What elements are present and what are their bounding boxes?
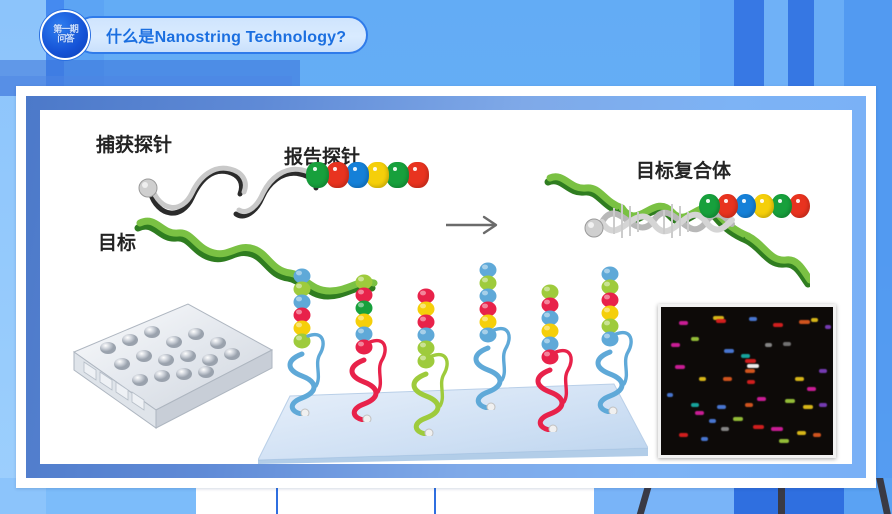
fluorescence-spot (797, 431, 806, 435)
molecule-bead (418, 341, 435, 356)
fluorescence-spot (691, 337, 699, 341)
surface-molecule (344, 272, 398, 422)
figure-frame-outer: 捕获探针 报告探针 目标 目标复合体 (16, 86, 876, 488)
molecule-bead (480, 315, 497, 330)
fluorescence-spot (699, 377, 706, 381)
fluorescence-spot (741, 354, 750, 358)
molecule-bead (542, 298, 559, 313)
fluorescence-spot (747, 364, 759, 368)
molecule-bead (542, 311, 559, 326)
fluorescence-spot (779, 439, 789, 443)
fluorescence-spot (691, 403, 699, 407)
fluorescence-spot (803, 405, 813, 409)
molecule-bead (602, 267, 619, 282)
complex-bead (789, 194, 810, 218)
molecule-bead (294, 282, 311, 297)
molecule-helix (406, 286, 460, 436)
fluorescence-spot (757, 397, 766, 401)
fluorescence-spot (819, 369, 827, 373)
molecule-bead (356, 327, 373, 342)
fluorescence-spot (749, 317, 757, 321)
molecule-bead (602, 306, 619, 321)
fluorescence-spot (679, 321, 688, 325)
surface-molecule (530, 282, 584, 432)
molecule-bead (356, 275, 373, 290)
complex-bead (735, 194, 756, 218)
fluorescence-spot (721, 427, 729, 431)
surface-molecules (258, 260, 648, 450)
molecule-helix (590, 264, 644, 414)
molecule-helix (344, 272, 398, 422)
surface-molecule (590, 264, 644, 414)
fluorescence-image (658, 304, 836, 458)
molecule-bead (294, 269, 311, 284)
molecule-bead (294, 295, 311, 310)
figure-canvas: 捕获探针 报告探针 目标 目标复合体 (40, 110, 852, 464)
complex-bead (771, 194, 792, 218)
molecule-bead (356, 288, 373, 303)
molecule-bead (542, 285, 559, 300)
molecule-bead (418, 289, 435, 304)
fluorescence-spot (733, 417, 743, 421)
process-arrow-icon (444, 215, 502, 235)
fluorescence-spot (717, 405, 726, 409)
molecule-bead (356, 314, 373, 329)
slide-title-bar: 第一期 问答 什么是Nanostring Technology? (40, 12, 368, 58)
figure-frame-inner: 捕获探针 报告探针 目标 目标复合体 (26, 96, 866, 478)
fluorescence-spot (795, 377, 804, 381)
molecule-bead (542, 324, 559, 339)
reporter-bead (386, 162, 409, 188)
fluorescence-spot (783, 342, 791, 346)
molecule-bead (602, 319, 619, 334)
complex-bead (753, 194, 774, 218)
badge-glyph: 第一期 问答 (53, 26, 78, 44)
fluorescence-spot (745, 403, 753, 407)
fluorescence-spot (679, 433, 688, 437)
molecule-bead (480, 263, 497, 278)
fluorescence-spot (716, 319, 726, 323)
molecule-bead (602, 293, 619, 308)
fluorescence-spot (723, 377, 732, 381)
badge-glyph-bottom: 问答 (53, 35, 78, 44)
molecule-bead (480, 289, 497, 304)
surface-molecule (468, 260, 522, 410)
molecule-bead (602, 280, 619, 295)
molecule-bead (418, 315, 435, 330)
reporter-bead (306, 162, 329, 188)
fluorescence-spot (785, 399, 795, 403)
complex-bead (699, 194, 720, 218)
label-capture-probe: 捕获探针 (96, 130, 172, 157)
slide-stage: 第一期 问答 什么是Nanostring Technology? 捕获探针 报告… (0, 0, 892, 514)
molecule-helix (282, 266, 336, 416)
molecule-bead (480, 302, 497, 317)
reporter-bead (406, 162, 429, 188)
fluorescence-spot (811, 318, 818, 322)
reporter-bead (346, 162, 369, 188)
reporter-probe-barcode (306, 162, 426, 188)
fluorescence-spot (771, 427, 783, 431)
fluorescence-spot (825, 325, 831, 329)
fluorescence-spot (695, 411, 704, 415)
molecule-bead (418, 328, 435, 343)
fluorescence-spot (709, 419, 716, 423)
molecule-bead (356, 301, 373, 316)
fluorescence-spot (765, 343, 772, 347)
fluorescence-spot (675, 365, 685, 369)
fluorescence-spot (724, 349, 734, 353)
fluorescence-spot (747, 380, 755, 384)
molecule-bead (294, 308, 311, 323)
fluorescence-spot (671, 343, 680, 347)
page-title: 什么是Nanostring Technology? (106, 23, 346, 47)
fluorescence-spot (745, 369, 755, 373)
molecule-bead (542, 337, 559, 352)
reporter-bead (366, 162, 389, 188)
molecule-bead (294, 321, 311, 336)
fluorescence-spot (701, 437, 708, 441)
fluorescence-spot (745, 359, 756, 363)
target-complex-barcode (699, 194, 807, 218)
fluorescence-spot (667, 393, 673, 397)
molecule-helix (468, 260, 522, 410)
qa-logo-badge: 第一期 问答 (40, 10, 90, 60)
surface-molecule (406, 286, 460, 436)
complex-bead (717, 194, 738, 218)
reporter-bead (326, 162, 349, 188)
fluorescence-spot (813, 433, 821, 437)
sample-cartridge (60, 298, 280, 448)
fluorescence-spot (819, 403, 827, 407)
fluorescence-spot (807, 387, 816, 391)
fluorescence-spot (773, 323, 783, 327)
molecule-bead (480, 276, 497, 291)
surface-molecule (282, 266, 336, 416)
fluorescence-spot (753, 425, 764, 429)
molecule-helix (530, 282, 584, 432)
label-target: 目标 (98, 228, 136, 255)
title-pill: 什么是Nanostring Technology? (74, 16, 368, 54)
fluorescence-spot (799, 320, 810, 324)
molecule-bead (418, 302, 435, 317)
